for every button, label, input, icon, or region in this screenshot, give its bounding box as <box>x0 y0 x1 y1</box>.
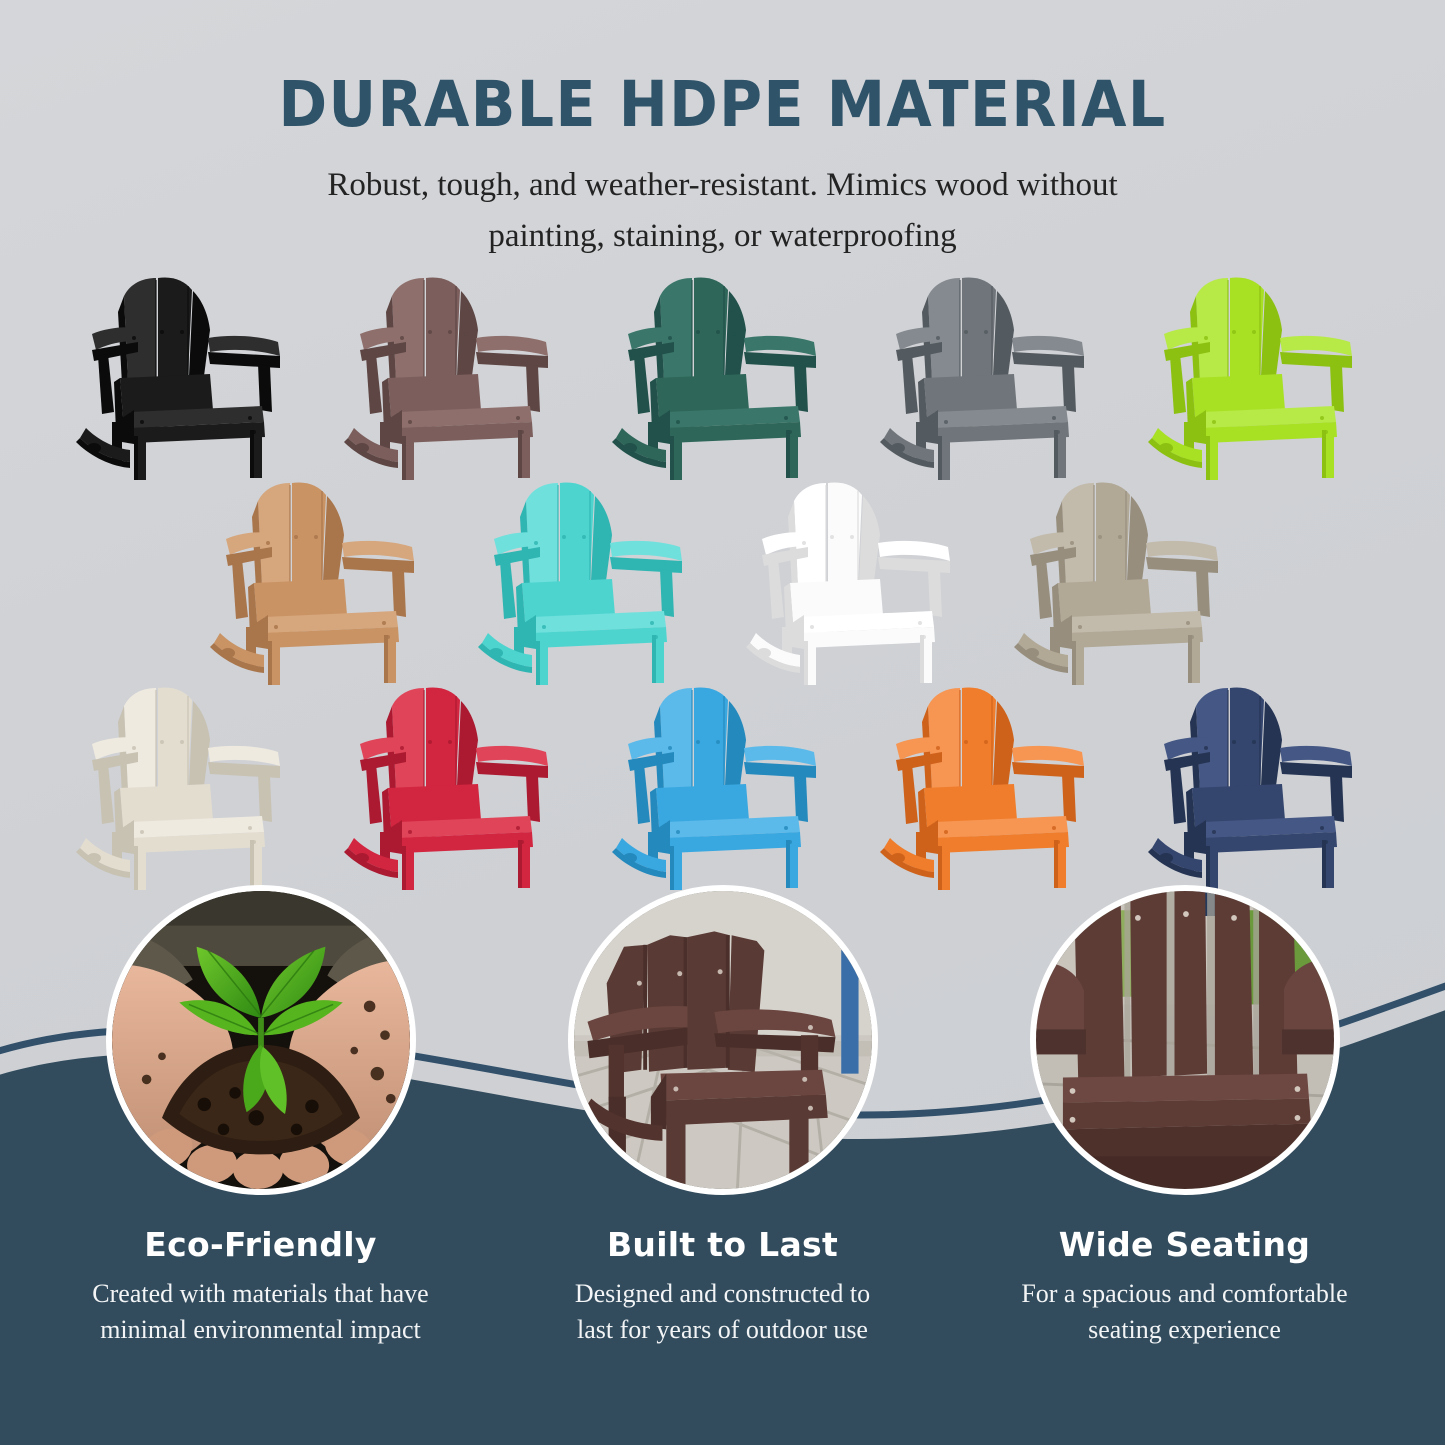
adirondack-chair-icon <box>742 477 972 690</box>
adirondack-chair-icon <box>608 682 838 895</box>
chair-swatch-black[interactable] <box>72 272 302 485</box>
adirondack-chair-icon <box>474 477 704 690</box>
features-section: Eco-Friendly Created with materials that… <box>0 877 1445 1445</box>
header: DURABLE HDPE MATERIAL Robust, tough, and… <box>0 0 1445 262</box>
feature-eco-friendly: Eco-Friendly Created with materials that… <box>51 885 471 1445</box>
chair-row-2 <box>0 477 1445 690</box>
adirondack-chair-icon <box>876 682 1106 895</box>
feature-title: Eco-Friendly <box>144 1225 376 1264</box>
feature-title: Built to Last <box>607 1225 838 1264</box>
feature-desc-line-1: For a spacious and comfortable <box>970 1276 1400 1312</box>
adirondack-chair-icon <box>1144 682 1374 895</box>
adirondack-chair-icon <box>608 272 838 485</box>
feature-title: Wide Seating <box>1059 1225 1310 1264</box>
feature-built-to-last: Built to Last Designed and constructed t… <box>513 885 933 1445</box>
feature-description: Created with materials that have minimal… <box>46 1276 476 1348</box>
chair-swatch-navy[interactable] <box>1144 682 1374 895</box>
chair-swatch-ivory[interactable] <box>72 682 302 895</box>
feature-desc-line-1: Created with materials that have <box>46 1276 476 1312</box>
adirondack-chair-icon <box>1010 477 1240 690</box>
chair-swatch-orange[interactable] <box>876 682 1106 895</box>
chair-swatch-brown[interactable] <box>340 272 570 485</box>
adirondack-chair-icon <box>876 272 1106 485</box>
subtitle-line-1: Robust, tough, and weather-resistant. Mi… <box>218 160 1228 211</box>
adirondack-chair-icon <box>72 682 302 895</box>
feature-desc-line-1: Designed and constructed to <box>508 1276 938 1312</box>
chair-swatch-turquoise[interactable] <box>474 477 704 690</box>
product-feature-poster: DURABLE HDPE MATERIAL Robust, tough, and… <box>0 0 1445 1445</box>
chair-swatch-gray[interactable] <box>876 272 1106 485</box>
adirondack-chair-icon <box>206 477 436 690</box>
chair-swatch-dark-green[interactable] <box>608 272 838 485</box>
subtitle-line-2: painting, staining, or waterproofing <box>218 211 1228 262</box>
feature-description: For a spacious and comfortable seating e… <box>970 1276 1400 1348</box>
adirondack-chair-icon <box>340 682 570 895</box>
chair-swatch-teak[interactable] <box>206 477 436 690</box>
chair-swatch-lime-green[interactable] <box>1144 272 1374 485</box>
subtitle: Robust, tough, and weather-resistant. Mi… <box>218 160 1228 262</box>
chair-swatch-light-blue[interactable] <box>608 682 838 895</box>
adirondack-chair-icon <box>340 272 570 485</box>
page-title: DURABLE HDPE MATERIAL <box>51 72 1395 138</box>
feature-desc-line-2: minimal environmental impact <box>46 1312 476 1348</box>
feature-description: Designed and constructed to last for yea… <box>508 1276 938 1348</box>
chair-row-1 <box>0 272 1445 485</box>
chair-swatch-white[interactable] <box>742 477 972 690</box>
adirondack-chair-icon <box>1144 272 1374 485</box>
chair-row-3 <box>0 682 1445 895</box>
chair-swatch-red[interactable] <box>340 682 570 895</box>
brown-chair-on-patio-photo-icon <box>568 885 878 1195</box>
chair-color-grid <box>0 272 1445 895</box>
seedling-in-hands-photo-icon <box>106 885 416 1195</box>
feature-wide-seating: Wide Seating For a spacious and comforta… <box>975 885 1395 1445</box>
feature-desc-line-2: last for years of outdoor use <box>508 1312 938 1348</box>
chair-seat-closeup-photo-icon <box>1030 885 1340 1195</box>
adirondack-chair-icon <box>72 272 302 485</box>
chair-swatch-driftwood[interactable] <box>1010 477 1240 690</box>
feature-desc-line-2: seating experience <box>970 1312 1400 1348</box>
